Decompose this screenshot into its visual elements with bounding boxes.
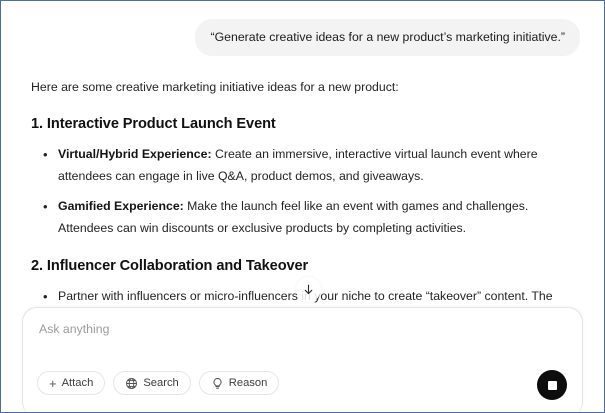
composer-toolbar: + Attach Search — [37, 371, 279, 395]
stop-square-icon — [548, 381, 557, 390]
app-window: “Generate creative ideas for a new produ… — [0, 0, 605, 413]
bullet-lead-label: Gamified Experience: — [58, 199, 184, 213]
scroll-to-bottom-button[interactable] — [296, 277, 321, 302]
attach-button-label: Attach — [62, 377, 94, 389]
user-message-bubble: “Generate creative ideas for a new produ… — [195, 19, 580, 56]
plus-icon: + — [49, 377, 57, 390]
user-message-row: “Generate creative ideas for a new produ… — [25, 19, 580, 56]
stop-generating-button[interactable] — [537, 370, 567, 400]
section-heading-2: 2. Influencer Collaboration and Takeover — [31, 258, 580, 274]
bullet-lead-label: Virtual/Hybrid Experience: — [58, 147, 212, 161]
search-input[interactable] — [39, 322, 439, 336]
assistant-intro-text: Here are some creative marketing initiat… — [31, 78, 580, 96]
lightbulb-icon — [211, 377, 224, 390]
reason-button-label: Reason — [229, 377, 268, 389]
globe-icon — [125, 377, 138, 390]
list-item: Gamified Experience: Make the launch fee… — [25, 195, 580, 240]
message-composer[interactable]: + Attach Search — [22, 307, 583, 413]
arrow-down-icon — [302, 283, 315, 296]
bullet-list-1: Virtual/Hybrid Experience: Create an imm… — [25, 143, 580, 240]
search-button-label: Search — [143, 377, 178, 389]
search-button[interactable]: Search — [113, 371, 190, 395]
attach-button[interactable]: + Attach — [37, 371, 105, 395]
list-item: Virtual/Hybrid Experience: Create an imm… — [25, 143, 580, 188]
section-heading-1: 1. Interactive Product Launch Event — [31, 116, 580, 132]
reason-button[interactable]: Reason — [199, 371, 280, 395]
